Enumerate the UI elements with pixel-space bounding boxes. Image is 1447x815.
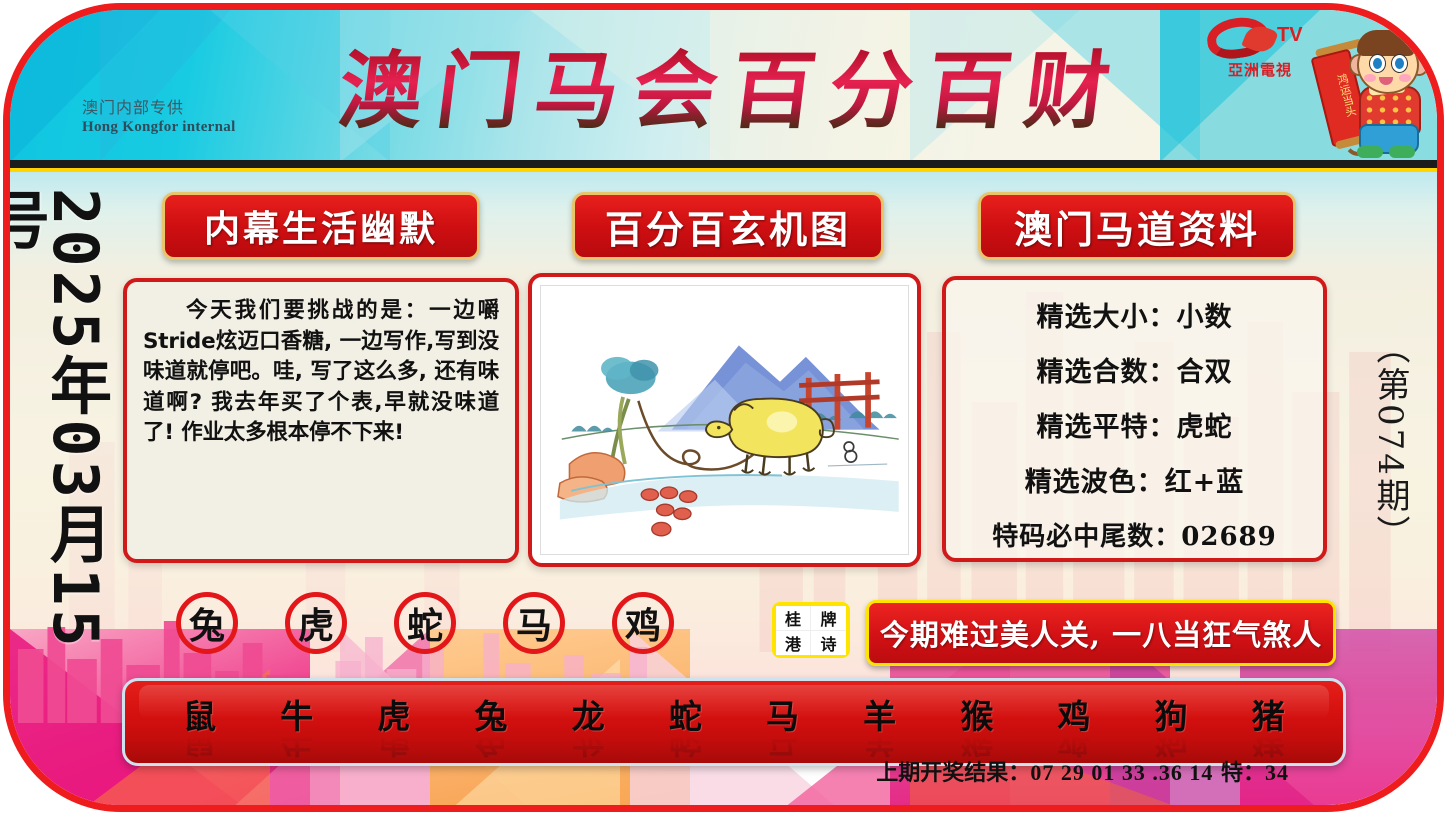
info-label: 精选合数： [1037,357,1177,388]
section-banner-info[interactable]: 澳门马道资料 [978,192,1296,260]
poem-tag-char: 桂 [776,606,811,631]
header-subtitle-en: Hong Kongfor internal [82,118,236,137]
zodiac-pick[interactable]: 兔 [176,592,238,654]
last-draw-label: 上期开奖结果： [876,760,1030,786]
atv-logo: TV 亞洲電視 [1201,18,1319,80]
atv-tv-label: TV [1277,24,1303,47]
header-subtitle: 澳门内部专供 Hong Kongfor internal [82,98,236,137]
section-banner-humor[interactable]: 内幕生活幽默 [162,192,480,260]
zodiac-bar-item[interactable]: 鼠 [183,690,216,738]
info-value: 合双 [1177,357,1233,388]
header-divider-yellow [10,168,1437,172]
atv-name-label: 亞洲電視 [1201,59,1319,80]
info-value: 红+蓝 [1165,467,1245,498]
poster-frame: 澳门内部专供 Hong Kongfor internal 澳门马会百分百财 TV… [3,3,1444,812]
last-draw-special-label: 特： [1221,760,1265,786]
info-label: 精选平特： [1037,412,1177,443]
issue-vertical-label: （第074期） [1366,330,1415,552]
last-draw-result: 上期开奖结果：07 29 01 33 .36 14 特：34 [876,755,1289,787]
zodiac-bar-item[interactable]: 牛 [280,690,313,738]
zodiac-pick[interactable]: 虎 [285,592,347,654]
zodiac-bar-item[interactable]: 猪 [1252,690,1285,738]
zodiac-bar-item[interactable]: 龙 [572,690,605,738]
picture-panel [528,273,921,567]
info-label: 精选波色： [1025,467,1165,498]
zodiac-bar-item[interactable]: 鸡 [1057,690,1090,738]
last-draw-special: 34 [1265,760,1289,785]
atv-a-icon: TV [1201,18,1319,58]
poem-tag-char: 诗 [811,631,846,655]
zodiac-picks: 兔 虎 蛇 马 鸡 [176,592,674,654]
header-divider-black [10,160,1437,168]
zodiac-bar-item[interactable]: 兔 [475,690,508,738]
poem-tag-char: 牌 [811,606,846,631]
pig-scene-illustration-icon [541,286,908,554]
zodiac-bar-item[interactable]: 猴 [960,690,993,738]
poster-root: 澳门内部专供 Hong Kongfor internal 澳门马会百分百财 TV… [0,0,1447,815]
page-title: 澳门马会百分百财 [333,24,1132,145]
poem-banner: 今期难过美人关, 一八当狂气煞人 [866,600,1336,666]
info-label: 精选大小： [1037,302,1177,333]
info-value: 02689 [1181,522,1276,552]
humor-panel: 今天我们要挑战的是：一边嚼Stride炫迈口香糖, 一边写作,写到没味道就停吧。… [123,278,519,563]
info-label: 特码必中尾数： [992,522,1181,552]
section-banner-picture[interactable]: 百分百玄机图 [572,192,884,260]
info-panel: 精选大小：小数 精选合数：合双 精选平特：虎蛇 精选波色：红+蓝 特码必中尾数：… [942,276,1327,562]
monkey-mascot-icon: 鸿运当头 [1317,24,1427,162]
info-value: 虎蛇 [1177,412,1233,443]
zodiac-bar-item[interactable]: 蛇 [669,690,702,738]
zodiac-bar-row: 鼠 牛 虎 兔 龙 蛇 马 羊 猴 鸡 狗 猪 [125,691,1343,737]
info-row: 精选大小：小数 [960,290,1309,345]
zodiac-bar-item[interactable]: 狗 [1155,690,1188,738]
info-value: 小数 [1177,302,1233,333]
zodiac-bar-item[interactable]: 羊 [863,690,896,738]
date-vertical-label: 2025年03月15号 [24,188,106,668]
omen-picture [540,285,909,555]
info-row: 精选波色：红+蓝 [960,455,1309,510]
zodiac-pick[interactable]: 马 [503,592,565,654]
zodiac-bar-item[interactable]: 虎 [377,690,410,738]
header-subtitle-cn: 澳门内部专供 [82,98,236,118]
info-row: 特码必中尾数：02689 [960,510,1309,565]
zodiac-bar-item[interactable]: 马 [766,690,799,738]
zodiac-pick[interactable]: 蛇 [394,592,456,654]
zodiac-pick[interactable]: 鸡 [612,592,674,654]
info-row: 精选平特：虎蛇 [960,400,1309,455]
last-draw-numbers: 07 29 01 33 .36 14 [1030,760,1213,785]
poem-tag-char: 港 [776,631,811,655]
info-row: 精选合数：合双 [960,345,1309,400]
zodiac-bar: 鼠 牛 虎 兔 龙 蛇 马 羊 猴 鸡 狗 猪 鼠 牛 虎 兔 龙 蛇 马 [122,678,1346,766]
poem-tag-box: 桂 牌 港 诗 [772,602,850,658]
humor-text: 今天我们要挑战的是：一边嚼Stride炫迈口香糖, 一边写作,写到没味道就停吧。… [143,296,499,449]
